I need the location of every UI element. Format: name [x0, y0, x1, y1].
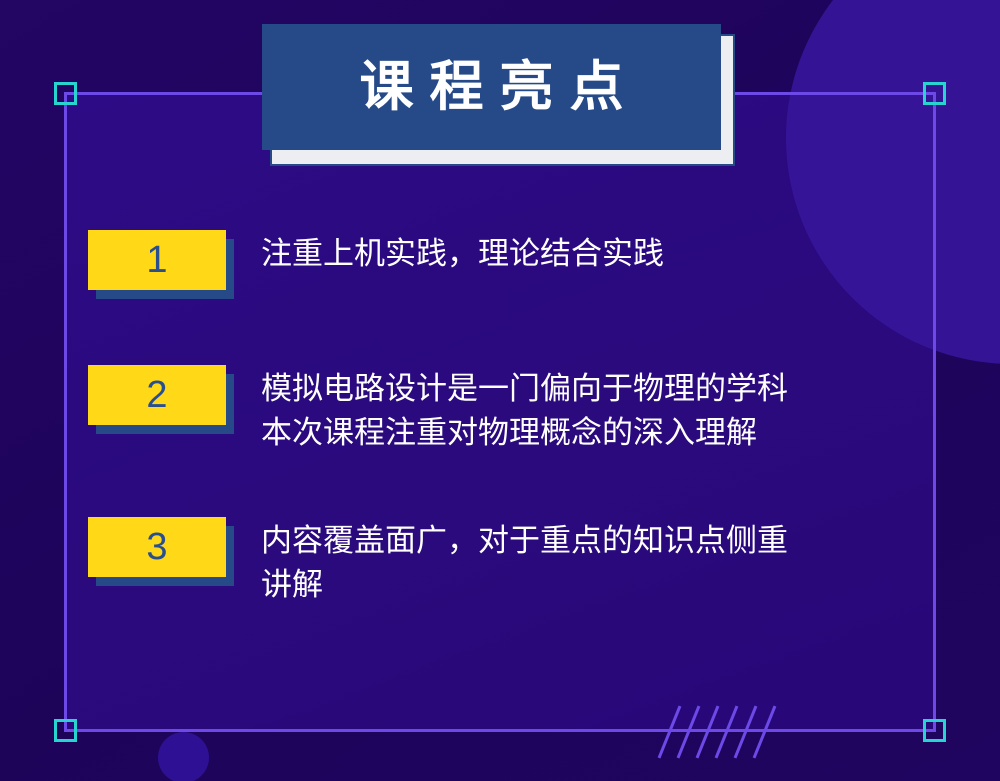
corner-mark-bottom-right	[923, 719, 946, 742]
feature-badge-2: 2	[88, 365, 234, 429]
frame-line-left	[64, 92, 67, 732]
feature-text-3: 内容覆盖面广，对于重点的知识点侧重 讲解	[261, 513, 788, 607]
feature-text-line: 注重上机实践，理论结合实践	[261, 232, 664, 276]
feature-text-line: 本次课程注重对物理概念的深入理解	[261, 411, 788, 455]
hatch-stripe-icon	[734, 705, 758, 758]
poster-canvas: 课程亮点 1 注重上机实践，理论结合实践 2 模拟电路设计	[0, 0, 1000, 781]
feature-text-2: 模拟电路设计是一门偏向于物理的学科 本次课程注重对物理概念的深入理解	[261, 361, 788, 455]
corner-mark-top-left	[54, 82, 77, 105]
hatch-stripe-icon	[753, 705, 777, 758]
list-item: 1 注重上机实践，理论结合实践	[88, 226, 664, 294]
feature-text-line: 讲解	[261, 563, 788, 607]
feature-text-line: 内容覆盖面广，对于重点的知识点侧重	[261, 519, 788, 563]
list-item: 3 内容覆盖面广，对于重点的知识点侧重 讲解	[88, 513, 788, 607]
badge-plate: 1	[88, 230, 226, 290]
hatch-stripe-icon	[696, 705, 720, 758]
feature-text-1: 注重上机实践，理论结合实践	[261, 226, 664, 276]
list-item: 2 模拟电路设计是一门偏向于物理的学科 本次课程注重对物理概念的深入理解	[88, 361, 788, 455]
title-banner: 课程亮点	[262, 24, 721, 150]
page-title: 课程亮点	[344, 60, 640, 114]
feature-badge-1: 1	[88, 230, 234, 294]
hatch-stripe-icon	[677, 705, 701, 758]
frame-line-right	[933, 92, 936, 732]
decorative-circle-small	[158, 732, 209, 781]
decorative-circle-large	[786, 0, 1000, 364]
badge-number: 2	[146, 376, 167, 414]
badge-number: 3	[146, 528, 167, 566]
badge-plate: 3	[88, 517, 226, 577]
feature-text-line: 模拟电路设计是一门偏向于物理的学科	[261, 367, 788, 411]
frame-line-bottom	[64, 729, 936, 732]
title-banner-plate: 课程亮点	[262, 24, 721, 150]
badge-number: 1	[146, 241, 167, 279]
diagonal-hatch-decoration	[664, 704, 774, 760]
feature-badge-3: 3	[88, 517, 234, 581]
badge-plate: 2	[88, 365, 226, 425]
hatch-stripe-icon	[715, 705, 739, 758]
corner-mark-top-right	[923, 82, 946, 105]
corner-mark-bottom-left	[54, 719, 77, 742]
